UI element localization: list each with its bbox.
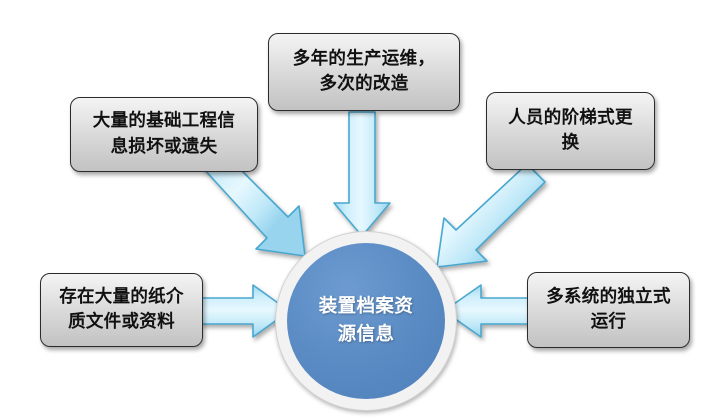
factor-box-upper-right[interactable]: 人员的阶梯式更 换 bbox=[486, 92, 655, 170]
arrow-down-top-center bbox=[334, 112, 390, 236]
diagram-canvas: 装置档案资 源信息 多年的生产运维， 多次的改造 大量的基础工程信 息损坏或遗失… bbox=[0, 0, 723, 417]
factor-box-top-center[interactable]: 多年的生产运维， 多次的改造 bbox=[268, 33, 460, 111]
center-node-label: 装置档案资 源信息 bbox=[319, 293, 414, 349]
factor-box-lower-right-label: 多系统的独立式 运行 bbox=[540, 285, 677, 336]
factor-box-upper-right-label: 人员的阶梯式更 换 bbox=[502, 106, 639, 157]
factor-box-lower-left[interactable]: 存在大量的纸介 质文件或资料 bbox=[40, 273, 203, 347]
factor-box-top-center-label: 多年的生产运维， 多次的改造 bbox=[287, 47, 441, 98]
arrow-left-lower-right bbox=[444, 285, 529, 337]
factor-box-lower-left-label: 存在大量的纸介 质文件或资料 bbox=[53, 285, 190, 336]
factor-box-lower-right[interactable]: 多系统的独立式 运行 bbox=[527, 272, 690, 348]
center-node-fill: 装置档案资 源信息 bbox=[287, 243, 445, 399]
factor-box-upper-left-label: 大量的基础工程信 息损坏或遗失 bbox=[87, 109, 241, 160]
center-node[interactable]: 装置档案资 源信息 bbox=[275, 231, 457, 411]
arrow-down-left-upper-right bbox=[437, 164, 545, 267]
factor-box-upper-left[interactable]: 大量的基础工程信 息损坏或遗失 bbox=[70, 97, 258, 172]
